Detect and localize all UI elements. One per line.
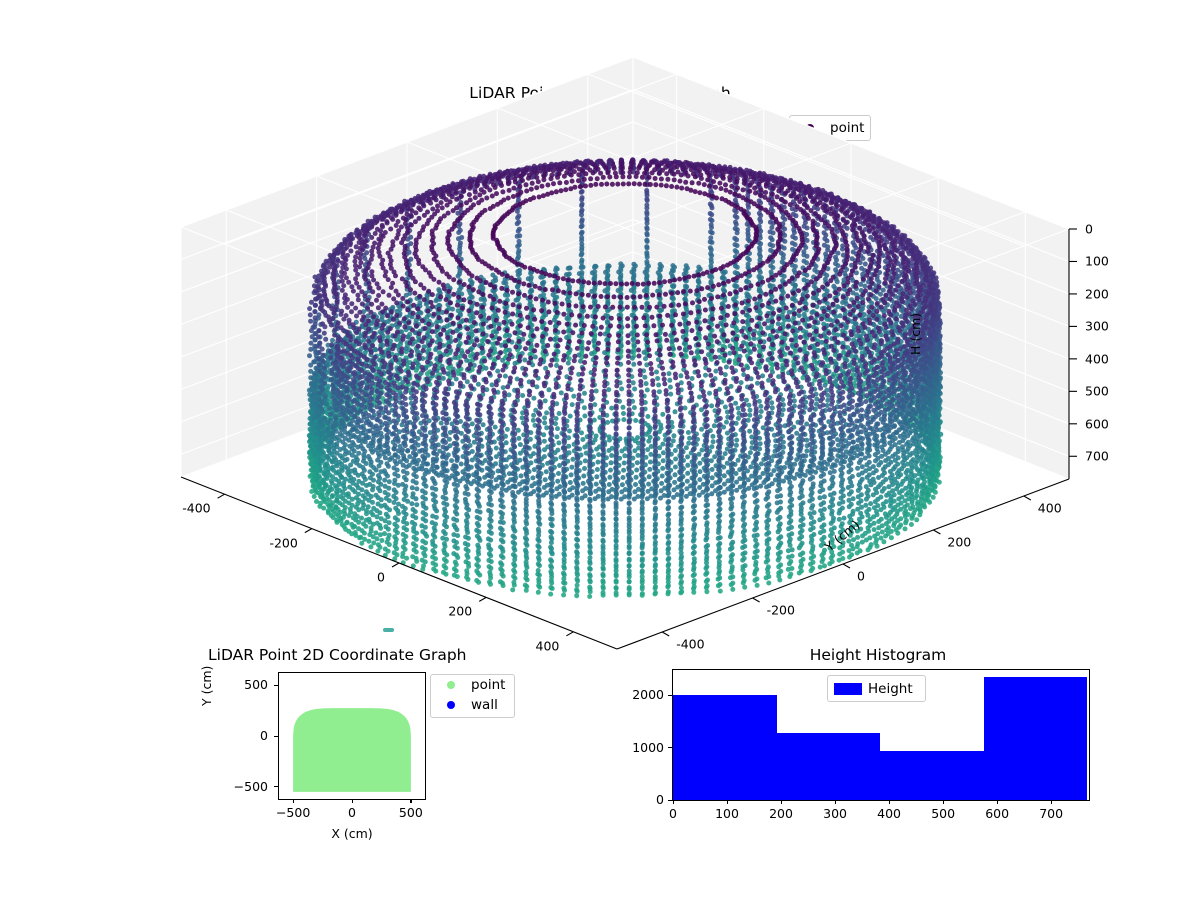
plot3d-xtick-2: 0 — [377, 570, 385, 585]
plot2d-xtickmark-0 — [293, 799, 294, 803]
plot3d-xtick-3: 200 — [448, 604, 472, 619]
legend-label-point: point — [830, 120, 864, 136]
plot2d-ytick-label-2: 500 — [222, 677, 268, 692]
histogram-xtickmark-4 — [889, 800, 890, 804]
plot3d-ztick-0: 0 — [1085, 222, 1093, 237]
histogram-legend[interactable]: Height — [827, 675, 926, 702]
histogram-ytickmark-2 — [668, 695, 672, 696]
plot2d-xtick-label-1: 0 — [324, 805, 380, 820]
plot2d-axes[interactable] — [278, 672, 426, 800]
plot2d-xtick-label-2: 500 — [383, 805, 439, 820]
histogram-xtick-label-7: 700 — [1029, 806, 1073, 821]
height-patch-icon — [834, 683, 862, 695]
histogram-bar — [880, 751, 984, 800]
plot2d-xtickmark-1 — [352, 799, 353, 803]
plot2d-ylabel: Y (cm) — [199, 666, 214, 706]
plot3d-ytick-1: -200 — [767, 603, 795, 618]
histogram-bar — [984, 677, 1087, 800]
histogram-title: Height Histogram — [666, 646, 1090, 664]
legend-marker-cell — [431, 701, 471, 709]
histogram-xtick-label-2: 200 — [759, 806, 803, 821]
plot3d-ztick-4: 400 — [1085, 351, 1109, 366]
plot3d-xtick-1: -200 — [269, 535, 297, 550]
legend-item-point[interactable]: point — [431, 675, 514, 695]
plot2d-ytickmark-1 — [274, 736, 278, 737]
plot2d-ytick-label-1: 0 — [222, 728, 268, 743]
histogram-ytick-label-0: 0 — [616, 792, 664, 807]
plot2d-xlabel: X (cm) — [278, 826, 426, 841]
matplotlib-figure: LiDAR Point 3D Coordinate Graph point -4… — [0, 0, 1200, 900]
legend-label-height: Height — [868, 681, 913, 697]
histogram-bar — [777, 733, 880, 800]
plot3d-zlabel: H (cm) — [908, 313, 923, 355]
legend-label-wall: wall — [471, 697, 498, 713]
histogram-xtick-label-0: 0 — [651, 806, 695, 821]
plot3d-xtick-0: -400 — [182, 501, 210, 516]
plot3d-ztick-3: 300 — [1085, 319, 1109, 334]
histogram-xtickmark-3 — [835, 800, 836, 804]
legend-item-wall[interactable]: wall — [431, 695, 514, 715]
plot3d-ytick-2: 0 — [857, 569, 865, 584]
plot2d-ytickmark-2 — [274, 685, 278, 686]
plot3d-canvas — [330, 140, 890, 640]
plot2d-xtickmark-2 — [410, 799, 411, 803]
plot3d-ztick-1: 100 — [1085, 254, 1109, 269]
point-marker-icon — [447, 681, 455, 689]
histogram-xtick-label-5: 500 — [921, 806, 965, 821]
plot3d-ztick-7: 700 — [1085, 449, 1109, 464]
legend-label-point: point — [471, 677, 505, 693]
plot3d-ytick-3: 200 — [947, 535, 971, 550]
plot3d-axes[interactable]: -400-2000200400-400-20002004000100200300… — [330, 140, 890, 640]
histogram-bar — [673, 695, 777, 800]
histogram-xtick-label-3: 300 — [813, 806, 857, 821]
histogram-ytickmark-0 — [668, 800, 672, 801]
plot2d-legend[interactable]: point wall — [430, 674, 515, 718]
plot2d-title: LiDAR Point 2D Coordinate Graph — [208, 646, 466, 664]
legend-item-height[interactable]: Height — [828, 676, 925, 701]
plot3d-ytick-4: 400 — [1038, 501, 1062, 516]
histogram-xtickmark-5 — [943, 800, 944, 804]
histogram-ytickmark-1 — [668, 747, 672, 748]
legend-marker-cell — [431, 681, 471, 689]
plot3d-ztick-5: 500 — [1085, 384, 1109, 399]
histogram-xtickmark-0 — [673, 800, 674, 804]
histogram-xtick-label-6: 600 — [975, 806, 1019, 821]
plot2d-xtick-label-0: −500 — [265, 805, 321, 820]
histogram-xtick-label-4: 400 — [867, 806, 911, 821]
plot3d-ztick-2: 200 — [1085, 286, 1109, 301]
histogram-xtickmark-6 — [997, 800, 998, 804]
histogram-xtick-label-1: 100 — [705, 806, 749, 821]
point-cloud-footprint — [293, 708, 411, 792]
histogram-ytick-label-1: 1000 — [616, 740, 664, 755]
plot2d-ytick-label-0: −500 — [222, 779, 268, 794]
histogram-xtickmark-1 — [727, 800, 728, 804]
legend-marker-cell — [828, 683, 868, 695]
histogram-xtickmark-7 — [1051, 800, 1052, 804]
plot3d-xtick-4: 400 — [536, 638, 560, 653]
plot2d-canvas — [279, 673, 425, 799]
wall-marker-icon — [447, 701, 455, 709]
stray-point-artifact — [383, 628, 394, 632]
plot2d-ytickmark-0 — [274, 786, 278, 787]
plot3d-ztick-6: 600 — [1085, 416, 1109, 431]
histogram-ytick-label-2: 2000 — [616, 687, 664, 702]
histogram-xtickmark-2 — [781, 800, 782, 804]
